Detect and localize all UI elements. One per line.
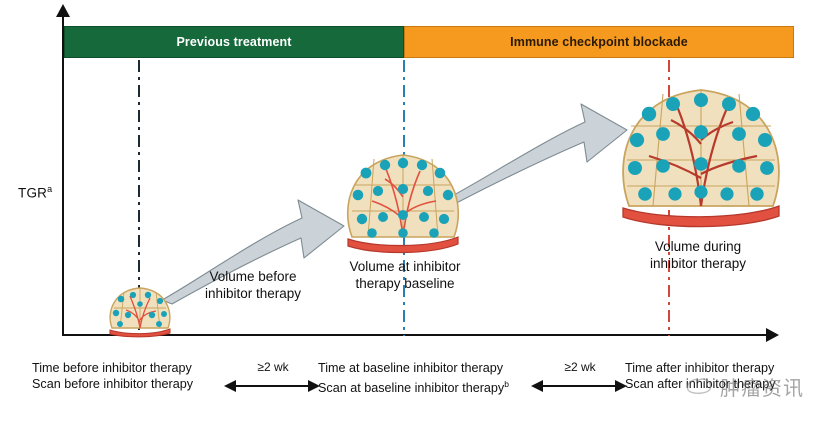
interval-label-1: ≥2 wk — [233, 360, 313, 374]
caption-line-2: therapy baseline — [325, 275, 485, 292]
caption-volume-during-inhibitor-therapy: Volume during inhibitor therapy — [600, 238, 796, 272]
interval-arrow-2 — [531, 378, 627, 394]
tumor-before-inhibitor-therapy — [104, 282, 176, 338]
timeline-after-scan: Scan after inhibitor therapy — [625, 376, 776, 392]
caption-line-1: Volume during — [600, 238, 796, 255]
banner-immune-checkpoint-blockade-label: Immune checkpoint blockade — [510, 35, 688, 49]
caption-line-2: inhibitor therapy — [600, 255, 796, 272]
tumor-at-baseline-inhibitor-therapy — [340, 145, 466, 255]
interval-arrow-1 — [224, 378, 320, 394]
y-axis-arrowhead — [56, 4, 70, 17]
tumor-during-inhibitor-therapy — [613, 78, 789, 230]
caption-volume-before-inhibitor-therapy: Volume before inhibitor therapy — [178, 268, 328, 302]
y-axis-line — [62, 14, 64, 336]
timeline-before-scan-text: Scan before inhibitor therapy — [32, 377, 193, 391]
caption-line-1: Volume at inhibitor — [325, 258, 485, 275]
caption-line-1: Volume before — [178, 268, 328, 285]
banner-previous-treatment: Previous treatment — [64, 26, 404, 58]
caption-line-2: inhibitor therapy — [178, 285, 328, 302]
timeline-after-time: Time after inhibitor therapy — [625, 360, 776, 376]
x-axis-arrowhead — [766, 328, 779, 342]
banner-previous-treatment-label: Previous treatment — [176, 35, 291, 49]
timeline-label-before: Time before inhibitor therapy Scan befor… — [32, 360, 193, 392]
timeline-baseline-scan-text: Scan at baseline inhibitor therapy — [318, 381, 504, 395]
timeline-baseline-time: Time at baseline inhibitor therapy — [318, 360, 509, 376]
y-axis-label-superscript: a — [47, 184, 52, 194]
timeline-label-baseline: Time at baseline inhibitor therapy Scan … — [318, 360, 509, 396]
timeline-before-scan: Scan before inhibitor therapy — [32, 376, 193, 392]
timeline-baseline-scan-superscript: b — [504, 379, 509, 389]
y-axis-label-text: TGR — [18, 186, 47, 201]
timeline-baseline-scan: Scan at baseline inhibitor therapyb — [318, 376, 509, 396]
y-axis-label: TGRa — [18, 184, 52, 201]
caption-volume-at-inhibitor-therapy-baseline: Volume at inhibitor therapy baseline — [325, 258, 485, 292]
timeline-label-after: Time after inhibitor therapy Scan after … — [625, 360, 776, 392]
interval-label-2: ≥2 wk — [540, 360, 620, 374]
banner-immune-checkpoint-blockade: Immune checkpoint blockade — [404, 26, 794, 58]
timeline-after-scan-text: Scan after inhibitor therapy — [625, 377, 776, 391]
timeline-before-time: Time before inhibitor therapy — [32, 360, 193, 376]
figure-canvas: TGRa Previous treatment Immune checkpoin… — [0, 0, 816, 431]
